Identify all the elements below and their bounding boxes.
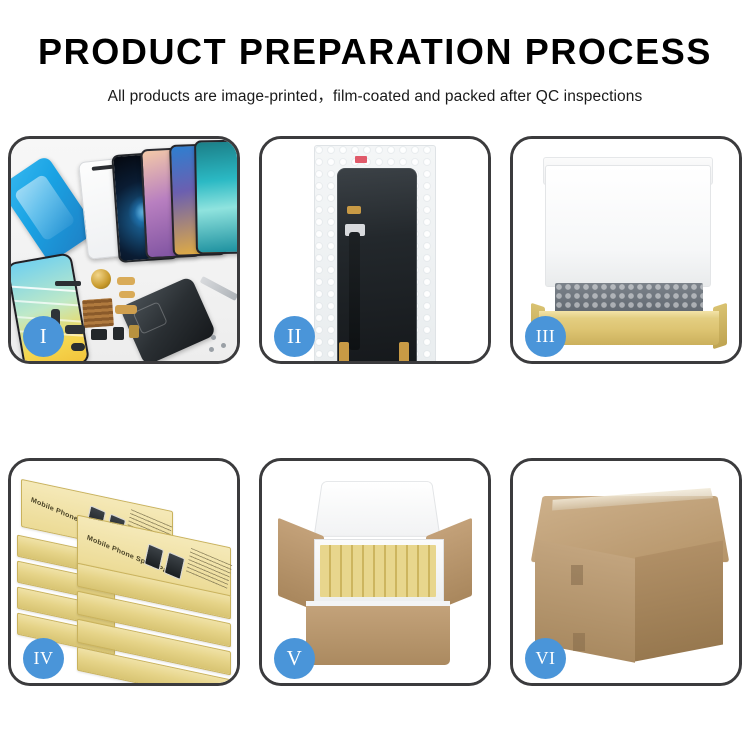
yellow-box-base-image (539, 311, 719, 345)
flex-cable-part (115, 305, 137, 314)
process-step-card-5[interactable]: V (259, 458, 491, 686)
process-step-grid: I II (8, 136, 742, 696)
carton-seam-mark (573, 633, 585, 651)
step-badge-6: VI (525, 638, 566, 679)
page-header: PRODUCT PREPARATION PROCESS All products… (0, 0, 750, 125)
connector-part (113, 327, 124, 340)
chip-grid-image (82, 298, 114, 328)
carton-right-panel (635, 540, 723, 661)
flex-cable-part (117, 277, 135, 285)
screw-part (209, 347, 214, 352)
foam-sheet-image (545, 165, 711, 287)
step-badge-5: V (274, 638, 315, 679)
screw-part (221, 343, 226, 348)
gold-contact-strip (399, 342, 409, 361)
connector-part (71, 343, 85, 351)
process-step-card-4[interactable]: Mobile Phone Spare Parts Mobile Phone Sp… (8, 458, 240, 686)
red-label-sticker (355, 156, 367, 163)
packed-yellow-boxes-image (320, 545, 436, 597)
page-subtitle: All products are image-printed，film-coat… (0, 84, 750, 106)
process-step-card-2[interactable]: II (259, 136, 491, 364)
carton-front-panel (306, 601, 450, 665)
box-spec-text-block (186, 548, 232, 590)
phone-display-teal-image (194, 140, 237, 255)
step-badge-3: III (525, 316, 566, 357)
step-badge-2: II (274, 316, 315, 357)
phone-back-housing-image (119, 276, 216, 361)
gold-contact-strip (339, 342, 349, 361)
process-step-card-3[interactable]: III (510, 136, 742, 364)
step-badge-4: IV (23, 638, 64, 679)
process-step-card-6[interactable]: VI (510, 458, 742, 686)
step-badge-1: I (23, 316, 64, 357)
connector-part (65, 325, 85, 334)
foam-lid-image (314, 481, 441, 537)
flex-cable-part (119, 291, 135, 298)
tweezers-tool-image (200, 276, 237, 301)
page-title: PRODUCT PREPARATION PROCESS (0, 31, 750, 73)
process-step-card-1[interactable]: I (8, 136, 240, 364)
bubble-wrap-bag-image (314, 145, 436, 361)
flex-cable-part (349, 232, 360, 350)
gold-contact-strip (347, 206, 361, 214)
copper-coil-icon (91, 269, 111, 289)
carton-seam-mark (571, 565, 583, 585)
box-phone-thumbnail (164, 552, 185, 581)
flex-cable-part (55, 281, 81, 286)
screw-part (211, 335, 216, 340)
connector-part (129, 325, 139, 338)
connector-part (91, 329, 107, 340)
